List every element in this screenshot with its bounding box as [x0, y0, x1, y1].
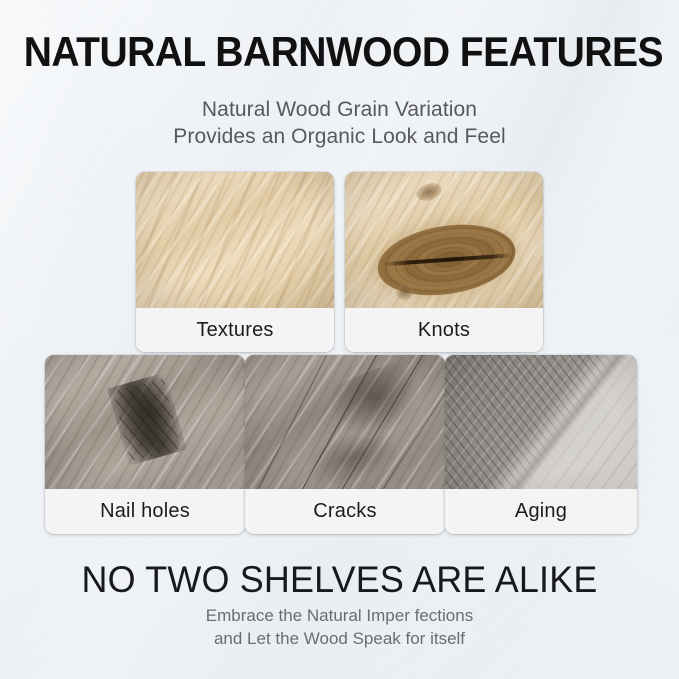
feature-label-nail-holes: Nail holes: [45, 489, 245, 534]
subtitle-line-2: Provides an Organic Look and Feel: [0, 123, 679, 150]
footer-headline: NO TWO SHELVES ARE ALIKE: [10, 559, 669, 601]
infographic-canvas: NATURAL BARNWOOD FEATURES Natural Wood G…: [0, 0, 679, 679]
feature-image-knots: [345, 172, 543, 308]
page-subtitle: Natural Wood Grain Variation Provides an…: [0, 96, 679, 150]
page-title: NATURAL BARNWOOD FEATURES: [24, 28, 655, 76]
feature-card-knots[interactable]: Knots: [345, 172, 543, 352]
feature-label-textures: Textures: [136, 308, 334, 352]
feature-label-aging: Aging: [445, 489, 637, 534]
subtitle-line-1: Natural Wood Grain Variation: [0, 96, 679, 123]
tagline-line-2: and Let the Wood Speak for itself: [0, 627, 679, 650]
feature-card-cracks[interactable]: Cracks: [245, 355, 445, 534]
feature-card-aging[interactable]: Aging: [445, 355, 637, 534]
image-vignette: [345, 172, 543, 308]
tagline-line-1: Embrace the Natural Imper fections: [0, 604, 679, 627]
feature-image-aging: [445, 355, 637, 489]
image-vignette: [245, 355, 445, 489]
feature-card-textures[interactable]: Textures: [136, 172, 334, 352]
image-vignette: [45, 355, 245, 489]
footer-tagline: Embrace the Natural Imper fections and L…: [0, 604, 679, 650]
image-vignette: [445, 355, 637, 489]
feature-label-knots: Knots: [345, 308, 543, 352]
feature-image-nail-holes: [45, 355, 245, 489]
image-vignette: [136, 172, 334, 308]
feature-image-cracks: [245, 355, 445, 489]
feature-card-nail-holes[interactable]: Nail holes: [45, 355, 245, 534]
feature-label-cracks: Cracks: [245, 489, 445, 534]
feature-image-textures: [136, 172, 334, 308]
